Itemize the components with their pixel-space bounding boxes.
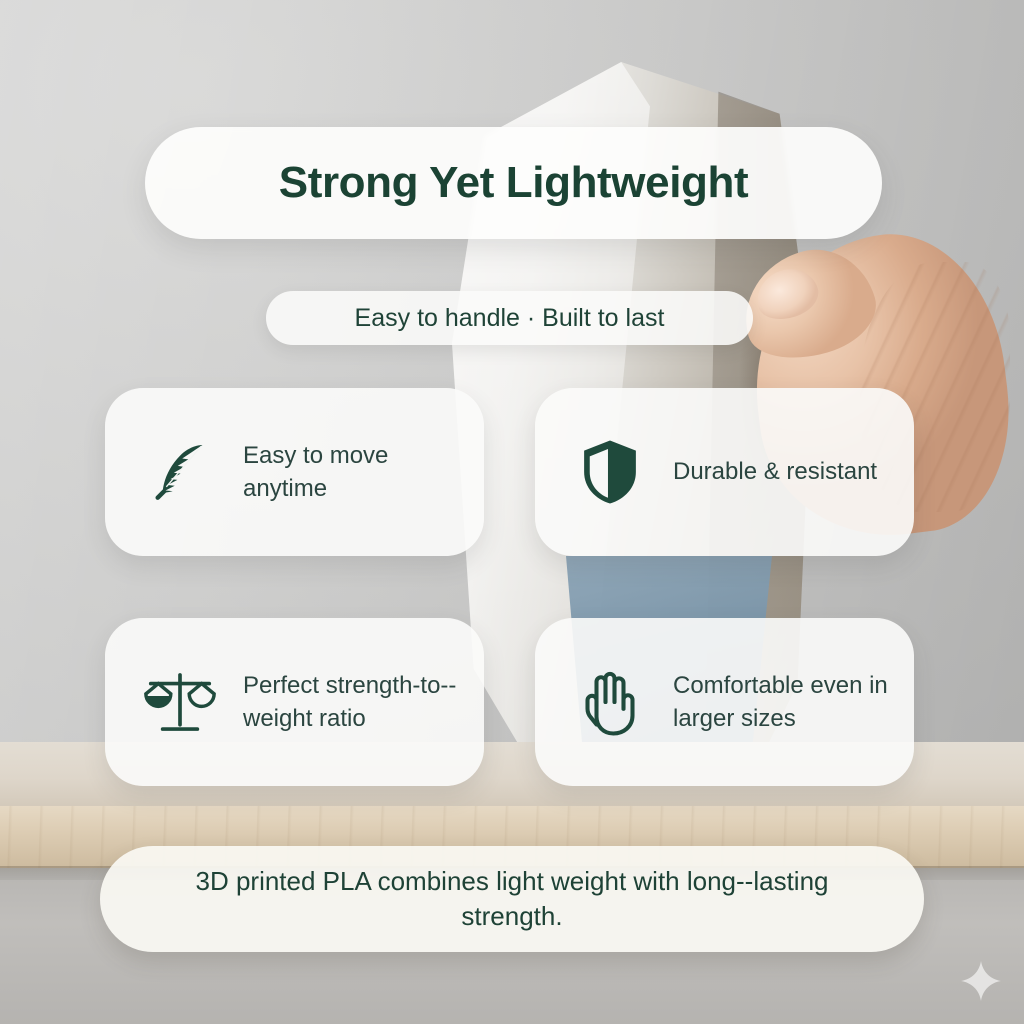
feature-card-easy-to-move[interactable]: Easy to move anytime: [105, 388, 484, 556]
caption-pill: 3D printed PLA combines light weight wit…: [100, 846, 924, 952]
feature-card-strength-to-weight[interactable]: Perfect strength-to--weight ratio: [105, 618, 484, 786]
feature-card-label: Comfortable even in larger sizes: [673, 669, 892, 735]
feature-card-label: Easy to move anytime: [243, 439, 462, 505]
page-title: Strong Yet Lightweight: [279, 158, 749, 208]
feature-card-grid: Easy to move anytime Durable & resistant: [105, 388, 919, 786]
caption-text: 3D printed PLA combines light weight wit…: [154, 864, 870, 934]
feature-card-comfortable[interactable]: Comfortable even in larger sizes: [535, 618, 914, 786]
title-pill: Strong Yet Lightweight: [145, 127, 882, 239]
feather-icon: [139, 431, 221, 513]
sparkle-icon: [960, 960, 1002, 1002]
open-hand-icon: [569, 661, 651, 743]
subtitle-pill: Easy to handle · Built to last: [266, 291, 753, 345]
page-subtitle: Easy to handle · Built to last: [355, 304, 665, 333]
shield-icon: [569, 431, 651, 513]
feature-card-durable[interactable]: Durable & resistant: [535, 388, 914, 556]
feature-card-label: Perfect strength-to--weight ratio: [243, 669, 462, 735]
promo-graphic: Strong Yet Lightweight Easy to handle · …: [0, 0, 1024, 1024]
balance-scale-icon: [139, 661, 221, 743]
feature-card-label: Durable & resistant: [673, 455, 877, 488]
